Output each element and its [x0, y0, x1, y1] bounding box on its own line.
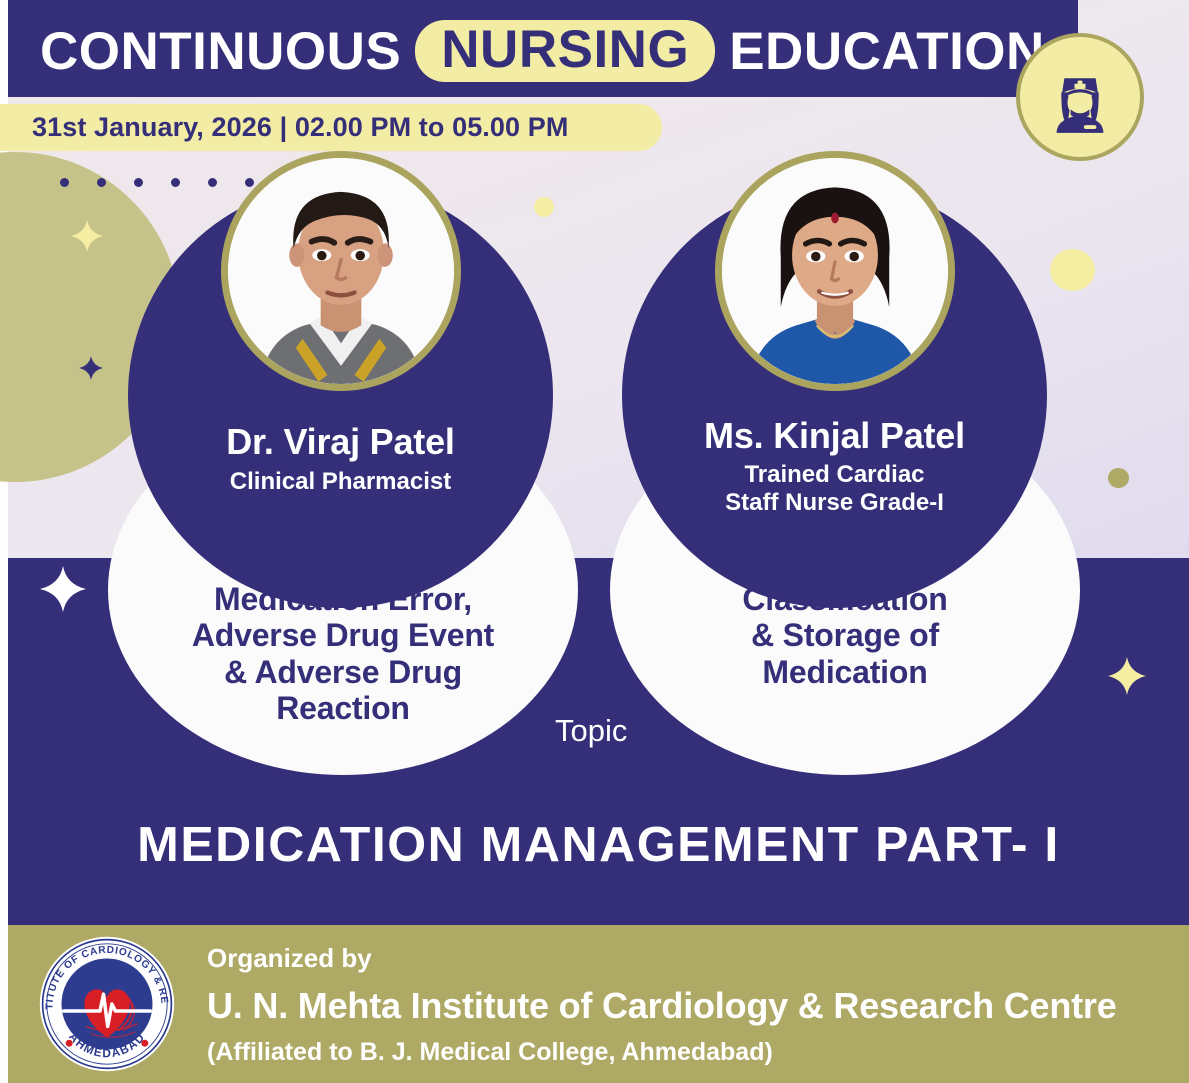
event-main-title: MEDICATION MANAGEMENT PART- I [0, 805, 1189, 885]
un-mehta-cardiology-seal-logo: U. N. MEHTA INSTITUTE OF CARDIOLOGY & RE… [34, 934, 180, 1074]
speaker-name: Dr. Viraj Patel [128, 421, 553, 463]
organized-by-label: Organized by [207, 942, 1117, 975]
date-time-band: 31st January, 2026 | 02.00 PM to 05.00 P… [0, 104, 662, 151]
footer-organizer-block: Organized by U. N. Mehta Institute of Ca… [207, 942, 1117, 1067]
speaker-card-2: Ms. Kinjal Patel Trained Cardiac Staff N… [622, 183, 1047, 608]
decor-dot-yellow-small [534, 197, 554, 217]
topic-label: Topic [555, 713, 627, 749]
nurse-icon [1016, 33, 1144, 161]
avatar [715, 151, 955, 391]
decor-star-blue-left [79, 355, 103, 381]
decor-star-yellow-left [71, 218, 103, 254]
title-highlight-nursing: NURSING [415, 20, 715, 82]
affiliation-text: (Affiliated to B. J. Medical College, Ah… [207, 1037, 1117, 1067]
topic-line: & Adverse Drug [108, 654, 578, 690]
photo-viraj-patel [228, 158, 454, 384]
avatar [221, 151, 461, 391]
topic-line: Reaction [108, 690, 578, 726]
title-word-continuous: CONTINUOUS [40, 21, 401, 82]
decor-star-yellow-right [1108, 655, 1146, 697]
speaker-card-1: Dr. Viraj Patel Clinical Pharmacist [128, 183, 553, 608]
page-title: CONTINUOUS NURSING EDUCATION [40, 20, 1040, 82]
topic-line: Adverse Drug Event [108, 617, 578, 653]
speaker-role: Clinical Pharmacist [128, 468, 553, 496]
decor-dot-olive-small [1108, 468, 1129, 488]
decor-star-white-left [40, 564, 86, 614]
speaker-name: Ms. Kinjal Patel [622, 415, 1047, 457]
title-word-education: EDUCATION [729, 21, 1045, 82]
poster-root: CONTINUOUS NURSING EDUCATION 31st Januar… [0, 0, 1189, 1083]
topic-line: & Storage of [610, 617, 1080, 653]
topic-line: Medication [610, 654, 1080, 690]
decor-dot-yellow-large [1050, 249, 1095, 291]
organization-name: U. N. Mehta Institute of Cardiology & Re… [207, 984, 1117, 1027]
date-time-text: 31st January, 2026 | 02.00 PM to 05.00 P… [32, 112, 568, 143]
speaker-role: Trained Cardiac Staff Nurse Grade-I [622, 461, 1047, 518]
photo-kinjal-patel [722, 158, 948, 384]
